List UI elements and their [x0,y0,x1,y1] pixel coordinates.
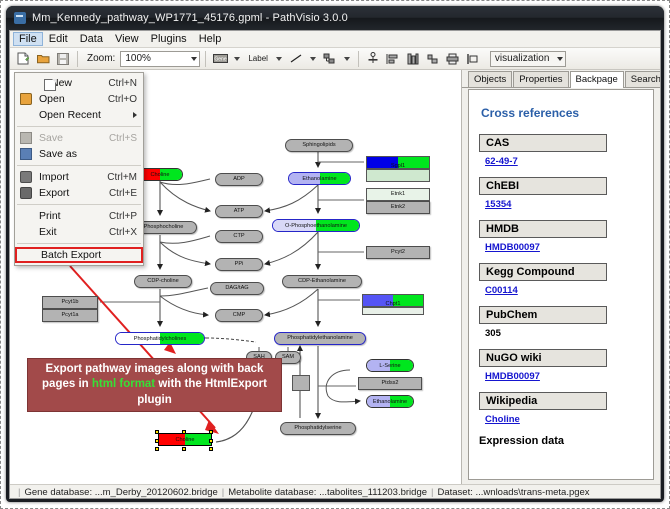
label-dropdown-icon[interactable] [276,57,282,61]
chpt1-expression-row [362,307,424,315]
file-menu-batch-export-label: Batch Export [41,249,141,261]
file-menu-item-new[interactable]: New Ctrl+N [15,75,143,91]
node-etnk2[interactable]: Etnk2 [366,201,430,214]
node-choline-selected-label: Choline [159,437,211,443]
label-button-text: Label [246,54,270,63]
status-sep-0: | [18,487,20,498]
xref-header-pubchem: PubChem [479,306,607,324]
menu-plugins[interactable]: Plugins [145,32,193,46]
selection-handle-sw[interactable] [155,447,159,451]
toolbar-separator [77,51,78,67]
open-folder-icon[interactable] [34,50,52,68]
node-phosphatidylcholines[interactable]: Phosphatidylcholines [115,332,205,345]
status-sep-1: | [222,487,224,498]
menu-file[interactable]: File [13,32,43,46]
application-window: Mm_Kennedy_pathway_WP1771_45176.gpml - P… [6,6,664,502]
file-menu-item-exit[interactable]: Exit Ctrl+X [15,224,143,240]
visualization-combobox[interactable]: visualization [490,51,566,67]
distribute-icon[interactable] [424,50,442,68]
file-menu-item-save-as[interactable]: Save as [15,146,143,162]
file-menu-export-label: Export [39,187,109,199]
reaction-anchor-block[interactable] [292,375,310,391]
line-dropdown-icon[interactable] [310,57,316,61]
selection-handle-se[interactable] [209,447,213,451]
import-icon-menu [20,171,32,183]
new-file-icon[interactable] [14,50,32,68]
file-menu-save-accel: Ctrl+S [109,133,143,144]
xref-header-hmdb: HMDB [479,220,607,238]
node-pcyt1b[interactable]: Pcyt1b [42,296,98,309]
node-phosphatidylserine[interactable]: Phosphatidylserine [280,422,356,435]
file-menu-save-as-label: Save as [39,148,143,160]
node-ethanolamine-lower-label: Ethanolamine [367,399,413,405]
node-chpt1[interactable]: Chpt1 [362,294,424,307]
side-panel-tabs: Objects Properties Backpage Search Legen… [462,70,660,88]
save-icon-menu [20,132,32,144]
selection-handle-nw[interactable] [155,430,159,434]
status-gene-database: Gene database: ...m_Derby_20120602.bridg… [24,487,217,498]
annotation-highlight: html format [92,378,155,390]
title-bar: Mm_Kennedy_pathway_WP1771_45176.gpml - P… [6,6,664,30]
xref-header-nugo: NuGO wiki [479,349,607,367]
status-dataset: Dataset: ...wnloads\trans-meta.pgex [437,487,589,498]
node-sphingolipids[interactable]: Sphingolipids [285,139,353,152]
file-menu-separator-4 [17,243,141,244]
node-dag-tag[interactable]: DAG/tAG [210,282,264,295]
node-cdp-ethanolamine[interactable]: CDP-Ethanolamine [282,275,362,288]
file-menu-item-batch-export[interactable]: Batch Export [15,247,143,263]
tab-objects[interactable]: Objects [468,71,512,87]
node-ctp[interactable]: CTP [215,230,263,243]
status-sep-2: | [431,487,433,498]
file-menu-save-label: Save [39,132,109,144]
menu-bar: File Edit Data View Plugins Help [10,31,660,48]
tab-search[interactable]: Search [625,71,660,87]
xref-header-cas: CAS [479,134,607,152]
node-o-phosphoethanolamine[interactable]: O-Phosphoethanolamine [272,219,360,232]
file-menu-item-open[interactable]: Open Ctrl+O [15,91,143,107]
tab-properties[interactable]: Properties [513,71,568,87]
annotation-callout: Export pathway images along with back pa… [27,358,282,412]
xref-value-kegg[interactable]: C00114 [485,285,643,296]
screenshot-root: Mm_Kennedy_pathway_WP1771_45176.gpml - P… [0,0,670,509]
node-l-serine[interactable]: L-Serine [366,359,414,372]
node-pcyt1a[interactable]: Pcyt1a [42,309,98,322]
annotation-text-after: with the HtmlExport plugin [137,378,267,406]
selection-handle-w[interactable] [155,439,159,443]
xref-value-cas[interactable]: 62-49-7 [485,156,643,167]
shape-icon[interactable] [321,50,339,68]
node-choline-selected[interactable]: Choline [158,433,212,446]
toolbar-separator-3 [358,51,359,67]
xref-header-wikipedia: Wikipedia [479,392,607,410]
menu-help[interactable]: Help [193,32,228,46]
xref-value-hmdb[interactable]: HMDB00097 [485,242,643,253]
sgpl1-expression-row [366,169,430,182]
tab-backpage[interactable]: Backpage [570,71,624,88]
node-ethanolamine-lower[interactable]: Ethanolamine [366,395,414,408]
anchor-icon[interactable] [364,50,382,68]
file-menu-item-export[interactable]: Export Ctrl+E [15,185,143,201]
shape-dropdown-icon[interactable] [344,57,350,61]
file-menu-new-accel: Ctrl+N [108,78,143,89]
selection-handle-s[interactable] [182,447,186,451]
menu-view[interactable]: View [109,32,145,46]
node-etnk1[interactable]: Etnk1 [366,188,430,201]
file-menu-open-label: Open [39,93,108,105]
menu-data[interactable]: Data [74,32,109,46]
node-ethanolamine-upper-label: Ethanolamine [289,176,350,182]
node-pcyt2[interactable]: Pcyt2 [366,246,430,259]
file-menu-print-accel: Ctrl+P [109,211,143,222]
file-menu-item-import[interactable]: Import Ctrl+M [15,169,143,185]
window-title: Mm_Kennedy_pathway_WP1771_45176.gpml - P… [32,12,348,24]
chevron-down-icon-2 [557,57,563,61]
file-menu-separator-3 [17,204,141,205]
align-center-icon[interactable] [404,50,422,68]
file-menu-import-label: Import [39,171,107,183]
file-menu-separator-1 [17,126,141,127]
xref-header-chebi: ChEBI [479,177,607,195]
node-choline-top-label: Choline [138,172,182,178]
chevron-right-icon [133,112,137,118]
file-menu-new-label: New [51,77,108,89]
export-icon-menu [20,187,32,199]
cross-references-title: Cross references [481,106,643,120]
zoom-label: Zoom: [87,53,115,64]
svg-text:Gene: Gene [214,57,226,63]
node-cmp[interactable]: CMP [215,309,263,322]
xref-value-nugo[interactable]: HMDB00097 [485,371,643,382]
node-ppi[interactable]: PPi [215,258,263,271]
file-menu-open-recent-label: Open Recent [39,109,143,121]
open-folder-icon-menu [20,93,32,105]
node-phosphatidylethanolamine[interactable]: Phosphatidylethanolamine [274,332,366,345]
line-icon[interactable] [287,50,305,68]
xref-value-pubchem: 305 [485,328,643,339]
application-body: File Edit Data View Plugins Help Z [9,30,661,499]
app-icon [14,12,26,24]
node-ethanolamine-upper[interactable]: Ethanolamine [288,172,351,185]
chevron-down-icon [191,57,197,61]
menu-edit[interactable]: Edit [43,32,74,46]
node-atp[interactable]: ATP [215,205,263,218]
xref-value-chebi[interactable]: 15354 [485,199,643,210]
new-file-icon-menu [44,79,56,91]
xref-value-wikipedia[interactable]: Choline [485,414,643,425]
side-panel: Objects Properties Backpage Search Legen… [462,70,660,484]
selection-handle-n[interactable] [182,430,186,434]
align-left-icon[interactable] [384,50,402,68]
file-menu-item-print[interactable]: Print Ctrl+P [15,208,143,224]
file-menu-exit-label: Exit [39,226,109,238]
selection-handle-e[interactable] [209,439,213,443]
file-menu-open-accel: Ctrl+O [108,94,143,105]
file-menu-item-open-recent[interactable]: Open Recent [15,107,143,123]
node-sgpl1[interactable]: Sgpl1 [366,156,430,169]
file-menu-exit-accel: Ctrl+X [109,227,143,238]
print-icon[interactable] [444,50,462,68]
backpage-content: Cross references CAS 62-49-7 ChEBI 15354… [468,89,654,480]
xref-header-kegg: Kegg Compound [479,263,607,281]
node-adp[interactable]: ADP [215,173,263,186]
group-icon[interactable] [464,50,482,68]
node-l-serine-label: L-Serine [367,363,413,369]
expression-data-title: Expression data [479,435,643,447]
toolbar: Zoom: 100% Gene Label [10,48,660,70]
gene-node-icon[interactable]: Gene [211,50,229,68]
zoom-combobox[interactable]: 100% [120,51,200,67]
toolbar-separator-2 [205,51,206,67]
selection-handle-ne[interactable] [209,430,213,434]
file-menu-dropdown[interactable]: New Ctrl+N Open Ctrl+O Open Recent Save … [14,72,144,266]
zoom-value: 100% [125,53,151,64]
node-ptdss2[interactable]: Ptdss2 [358,377,422,390]
file-menu-export-accel: Ctrl+E [109,188,143,199]
status-metabolite-database: Metabolite database: ...tabolites_111203… [228,487,427,498]
visualization-value: visualization [495,53,549,64]
file-menu-separator-2 [17,165,141,166]
node-cdp-choline[interactable]: CDP-choline [134,275,192,288]
node-o-phosphoethanolamine-label: O-Phosphoethanolamine [273,223,359,229]
file-menu-item-save: Save Ctrl+S [15,130,143,146]
node-phosphatidylcholines-label: Phosphatidylcholines [116,336,204,342]
file-menu-print-label: Print [39,210,109,222]
save-icon[interactable] [54,50,72,68]
gene-dropdown-icon[interactable] [234,57,240,61]
file-menu-import-accel: Ctrl+M [107,172,143,183]
label-icon[interactable]: Label [245,50,271,68]
status-bar: | Gene database: ...m_Derby_20120602.bri… [10,484,660,499]
save-as-icon-menu [20,148,32,160]
